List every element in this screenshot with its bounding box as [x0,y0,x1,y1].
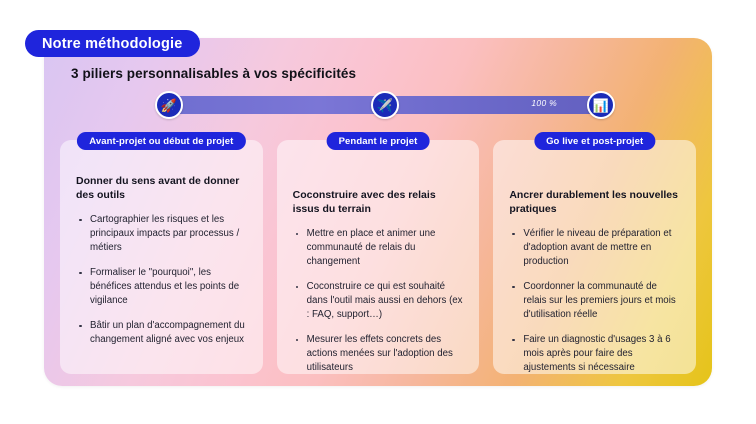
bar-chart-icon: 📊 [587,91,615,119]
list-item: Cartographier les risques et les princip… [76,213,247,255]
list-item: Bâtir un plan d'accompagnement du change… [76,319,247,347]
list-item: Faire un diagnostic d'usages 3 à 6 mois … [509,333,680,375]
page-title-badge: Notre méthodologie [25,30,200,57]
list-item: Formaliser le "pourquoi", les bénéfices … [76,266,247,308]
pillar-card-2: Pendant le projet Coconstruire avec des … [277,140,480,374]
list-item: Vérifier le niveau de préparation et d'a… [509,227,680,269]
progress-timeline: 100 % 🚀 ✈️ 📊 [155,96,615,114]
list-item: Coconstruire ce qui est souhaité dans l'… [293,280,464,322]
methodology-slide: Notre méthodologie 3 piliers personnalis… [0,0,756,424]
pillar-badge-3: Go live et post-projet [534,132,655,150]
pillar-card-3: Go live et post-projet Ancrer durablemen… [493,140,696,374]
progress-percent-label: 100 % [531,98,557,108]
pillar-badge-2: Pendant le projet [327,132,430,150]
list-item: Mettre en place et animer une communauté… [293,227,464,269]
airplane-icon: ✈️ [371,91,399,119]
airplane-glyph: ✈️ [377,99,393,112]
list-item: Mesurer les effets concrets des actions … [293,333,464,375]
pillar-badge-1: Avant-projet ou début de projet [77,132,245,150]
pillar-bullets-1: Cartographier les risques et les princip… [76,213,247,348]
list-item: Coordonner la communauté de relais sur l… [509,280,680,322]
rocket-glyph: 🚀 [161,99,177,112]
pillar-title-3: Ancrer durablement les nouvelles pratiqu… [509,188,680,217]
pillar-bullets-3: Vérifier le niveau de préparation et d'a… [509,227,680,376]
pillar-bullets-2: Mettre en place et animer une communauté… [293,227,464,376]
pillar-columns: Avant-projet ou début de projet Donner d… [60,140,696,374]
subtitle-text: 3 piliers personnalisables à vos spécifi… [71,66,356,81]
pillar-title-1: Donner du sens avant de donner des outil… [76,174,247,203]
pillar-card-1: Avant-projet ou début de projet Donner d… [60,140,263,374]
pillar-title-2: Coconstruire avec des relais issus du te… [293,188,464,217]
bar-chart-glyph: 📊 [593,99,609,112]
rocket-icon: 🚀 [155,91,183,119]
